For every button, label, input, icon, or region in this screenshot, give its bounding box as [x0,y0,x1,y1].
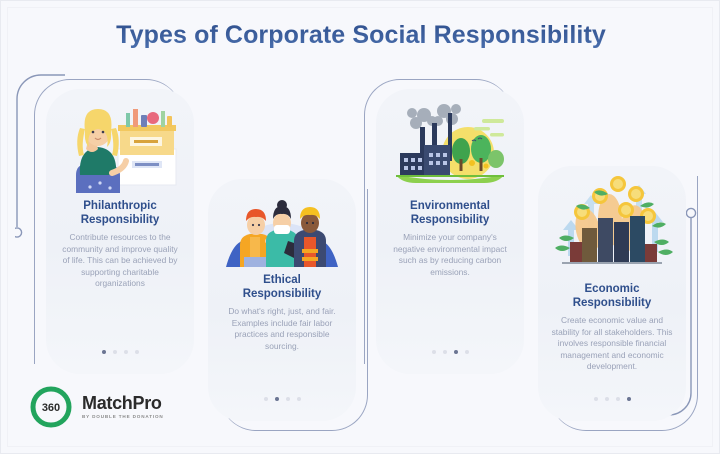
dot-1[interactable] [594,397,598,401]
pagination-dots-ethical[interactable] [208,397,356,401]
card-title-line1: Economic [585,283,640,295]
card-environmental[interactable]: Environmental Responsibility Minimize yo… [376,89,524,374]
factory-with-nature-icon [386,101,514,193]
brand-logo[interactable]: 360 MatchPro BY DOUBLE THE DONATION [29,385,164,429]
card-body-philanthropic: Contribute resources to the community an… [59,232,181,290]
card-title-environmental: Environmental Responsibility [387,199,513,227]
card-body-economic: Create economic value and stability for … [551,315,673,373]
dot-3[interactable] [616,397,620,401]
pagination-dots-environmental[interactable] [376,350,524,354]
card-title-philanthropic: Philanthropic Responsibility [57,199,183,227]
card-title-line1: Philanthropic [83,200,156,212]
card-ethical[interactable]: Ethical Responsibility Do what's right, … [208,179,356,421]
card-philanthropic[interactable]: Philanthropic Responsibility Contribute … [46,89,194,374]
dot-2[interactable] [275,397,279,401]
card-title-line1: Environmental [410,200,490,212]
dot-4[interactable] [627,397,631,401]
dot-1[interactable] [264,397,268,401]
card-title-line2: Responsibility [411,214,490,226]
three-workers-icon [218,195,346,267]
360-circle-logo-icon: 360 [29,385,73,429]
logo-wordmark: MatchPro BY DOUBLE THE DONATION [82,394,164,420]
dot-2[interactable] [113,350,117,354]
card-body-environmental: Minimize your company's negative environ… [389,232,511,278]
page-title: Types of Corporate Social Responsibility [1,21,720,50]
dot-4[interactable] [465,350,469,354]
dot-3[interactable] [454,350,458,354]
dot-2[interactable] [605,397,609,401]
logo-name: MatchPro [82,394,164,412]
card-title-line1: Ethical [263,274,301,286]
pagination-dots-philanthropic[interactable] [46,350,194,354]
card-title-economic: Economic Responsibility [549,282,675,310]
dot-4[interactable] [135,350,139,354]
card-body-ethical: Do what's right, just, and fair. Example… [221,306,343,352]
pagination-dots-economic[interactable] [538,397,686,401]
logo-badge-text: 360 [42,402,60,414]
dot-4[interactable] [297,397,301,401]
growth-bar-chart-with-coins-icon [548,172,676,276]
card-title-line2: Responsibility [573,297,652,309]
card-title-line2: Responsibility [81,214,160,226]
woman-with-donation-box-icon [56,101,184,193]
card-title-line2: Responsibility [243,288,322,300]
dot-3[interactable] [286,397,290,401]
dot-1[interactable] [102,350,106,354]
infographic-canvas: Types of Corporate Social Responsibility [0,0,720,454]
dot-1[interactable] [432,350,436,354]
card-title-ethical: Ethical Responsibility [219,273,345,301]
dot-3[interactable] [124,350,128,354]
logo-tagline: BY DOUBLE THE DONATION [82,415,164,420]
card-economic[interactable]: Economic Responsibility Create economic … [538,166,686,421]
dot-2[interactable] [443,350,447,354]
